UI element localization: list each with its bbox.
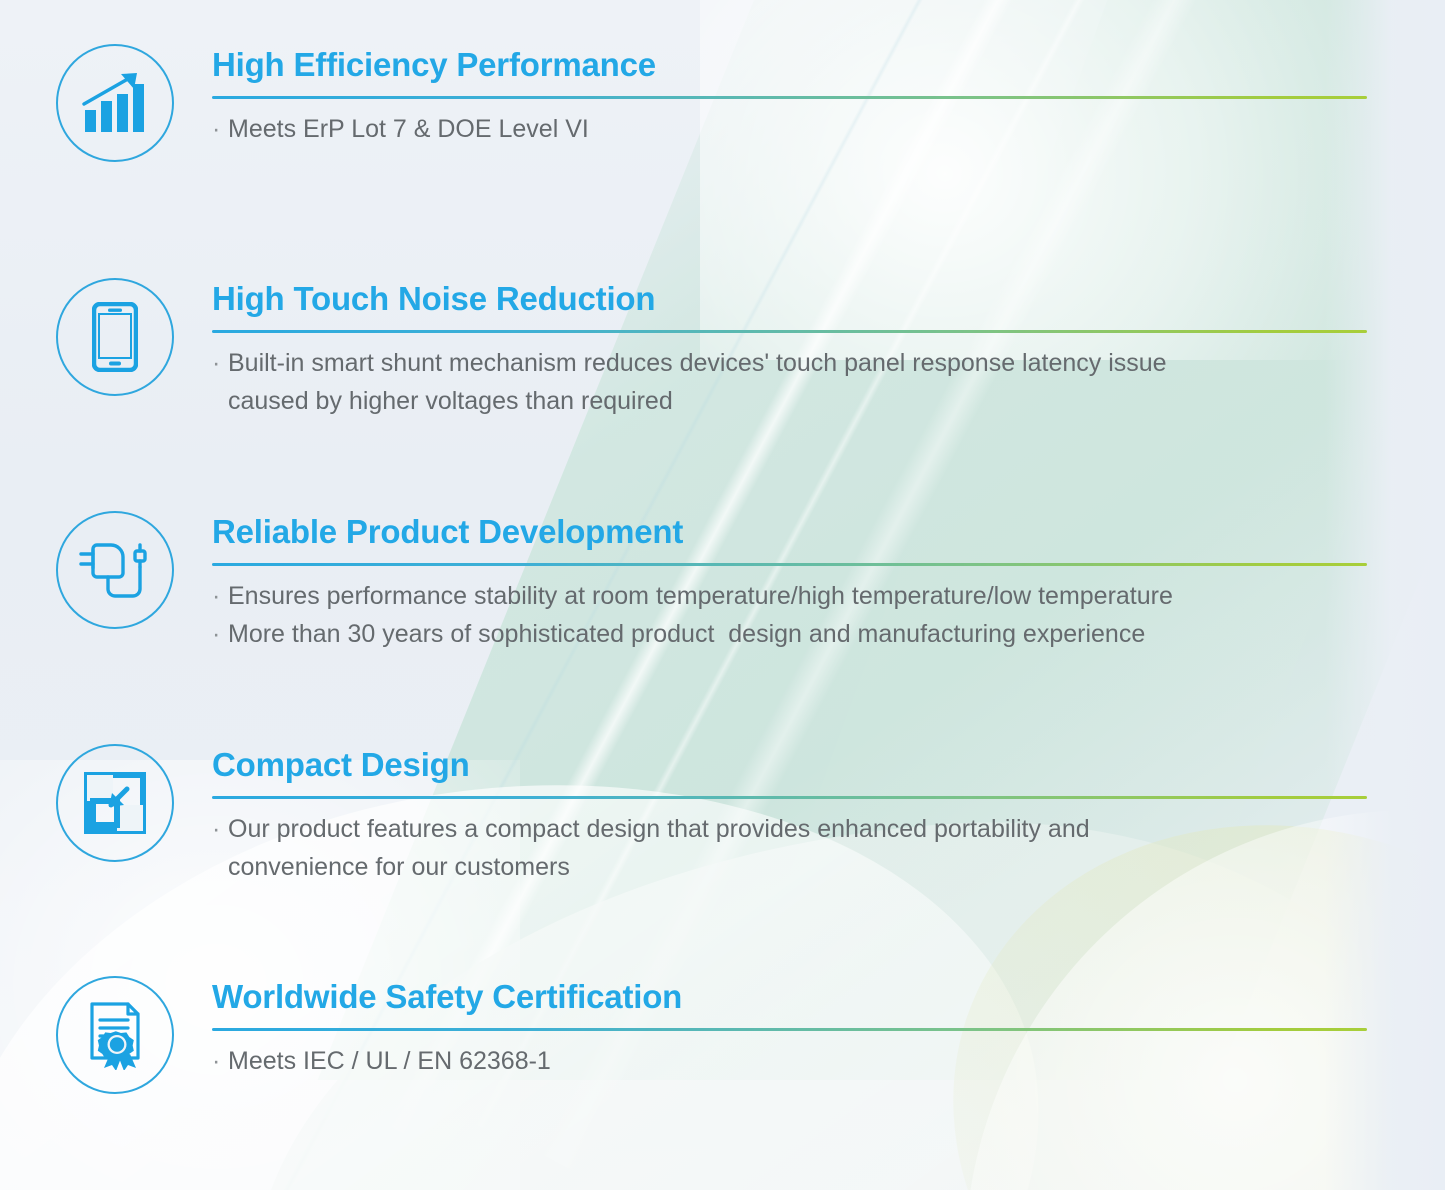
feature-title: Worldwide Safety Certification bbox=[212, 980, 1367, 1015]
certificate-seal-icon bbox=[56, 976, 174, 1094]
bullet-text: Ensures performance stability at room te… bbox=[228, 577, 1173, 615]
bullet-mark: · bbox=[212, 577, 228, 615]
feature-item-reliable-product-development: Reliable Product Development ·Ensures pe… bbox=[0, 511, 1367, 653]
bar-chart-growth-icon bbox=[56, 44, 174, 162]
feature-title: High Efficiency Performance bbox=[212, 48, 1367, 83]
list-item: ·Ensures performance stability at room t… bbox=[212, 577, 1367, 615]
feature-item-compact-design: Compact Design ·Our product features a c… bbox=[0, 744, 1367, 886]
compact-resize-icon bbox=[56, 744, 174, 862]
list-item: ·More than 30 years of sophisticated pro… bbox=[212, 615, 1367, 653]
bullet-text: Meets ErP Lot 7 & DOE Level VI bbox=[228, 110, 589, 148]
feature-bullet-list: ·Meets IEC / UL / EN 62368-1 bbox=[212, 1042, 1367, 1080]
bullet-mark: · bbox=[212, 810, 228, 848]
feature-body: Reliable Product Development ·Ensures pe… bbox=[212, 511, 1367, 653]
feature-divider bbox=[212, 1028, 1367, 1031]
feature-divider bbox=[212, 796, 1367, 799]
bullet-text: Built-in smart shunt mechanism reduces d… bbox=[228, 344, 1167, 420]
bullet-text: Meets IEC / UL / EN 62368-1 bbox=[228, 1042, 551, 1080]
feature-bullet-list: ·Our product features a compact design t… bbox=[212, 810, 1367, 886]
feature-item-worldwide-safety-certification: Worldwide Safety Certification ·Meets IE… bbox=[0, 976, 1367, 1094]
feature-bullet-list: ·Built-in smart shunt mechanism reduces … bbox=[212, 344, 1367, 420]
feature-highlights-panel: High Efficiency Performance ·Meets ErP L… bbox=[0, 0, 1445, 1190]
bullet-text: Our product features a compact design th… bbox=[228, 810, 1090, 886]
bullet-mark: · bbox=[212, 615, 228, 653]
feature-title: Compact Design bbox=[212, 748, 1367, 783]
feature-bullet-list: ·Meets ErP Lot 7 & DOE Level VI bbox=[212, 110, 1367, 148]
feature-body: High Efficiency Performance ·Meets ErP L… bbox=[212, 44, 1367, 148]
bullet-mark: · bbox=[212, 110, 228, 148]
feature-body: Worldwide Safety Certification ·Meets IE… bbox=[212, 976, 1367, 1080]
feature-divider bbox=[212, 96, 1367, 99]
list-item: ·Meets ErP Lot 7 & DOE Level VI bbox=[212, 110, 1367, 148]
feature-title: High Touch Noise Reduction bbox=[212, 282, 1367, 317]
feature-item-high-touch-noise-reduction: High Touch Noise Reduction ·Built-in sma… bbox=[0, 278, 1367, 420]
feature-divider bbox=[212, 563, 1367, 566]
bullet-text: More than 30 years of sophisticated prod… bbox=[228, 615, 1145, 653]
feature-divider bbox=[212, 330, 1367, 333]
list-item: ·Built-in smart shunt mechanism reduces … bbox=[212, 344, 1367, 420]
feature-item-high-efficiency-performance: High Efficiency Performance ·Meets ErP L… bbox=[0, 44, 1367, 162]
bullet-mark: · bbox=[212, 1042, 228, 1080]
list-item: ·Our product features a compact design t… bbox=[212, 810, 1367, 886]
feature-body: Compact Design ·Our product features a c… bbox=[212, 744, 1367, 886]
bullet-mark: · bbox=[212, 344, 228, 382]
feature-body: High Touch Noise Reduction ·Built-in sma… bbox=[212, 278, 1367, 420]
feature-bullet-list: ·Ensures performance stability at room t… bbox=[212, 577, 1367, 653]
smartphone-icon bbox=[56, 278, 174, 396]
power-adapter-icon bbox=[56, 511, 174, 629]
list-item: ·Meets IEC / UL / EN 62368-1 bbox=[212, 1042, 1367, 1080]
feature-title: Reliable Product Development bbox=[212, 515, 1367, 550]
